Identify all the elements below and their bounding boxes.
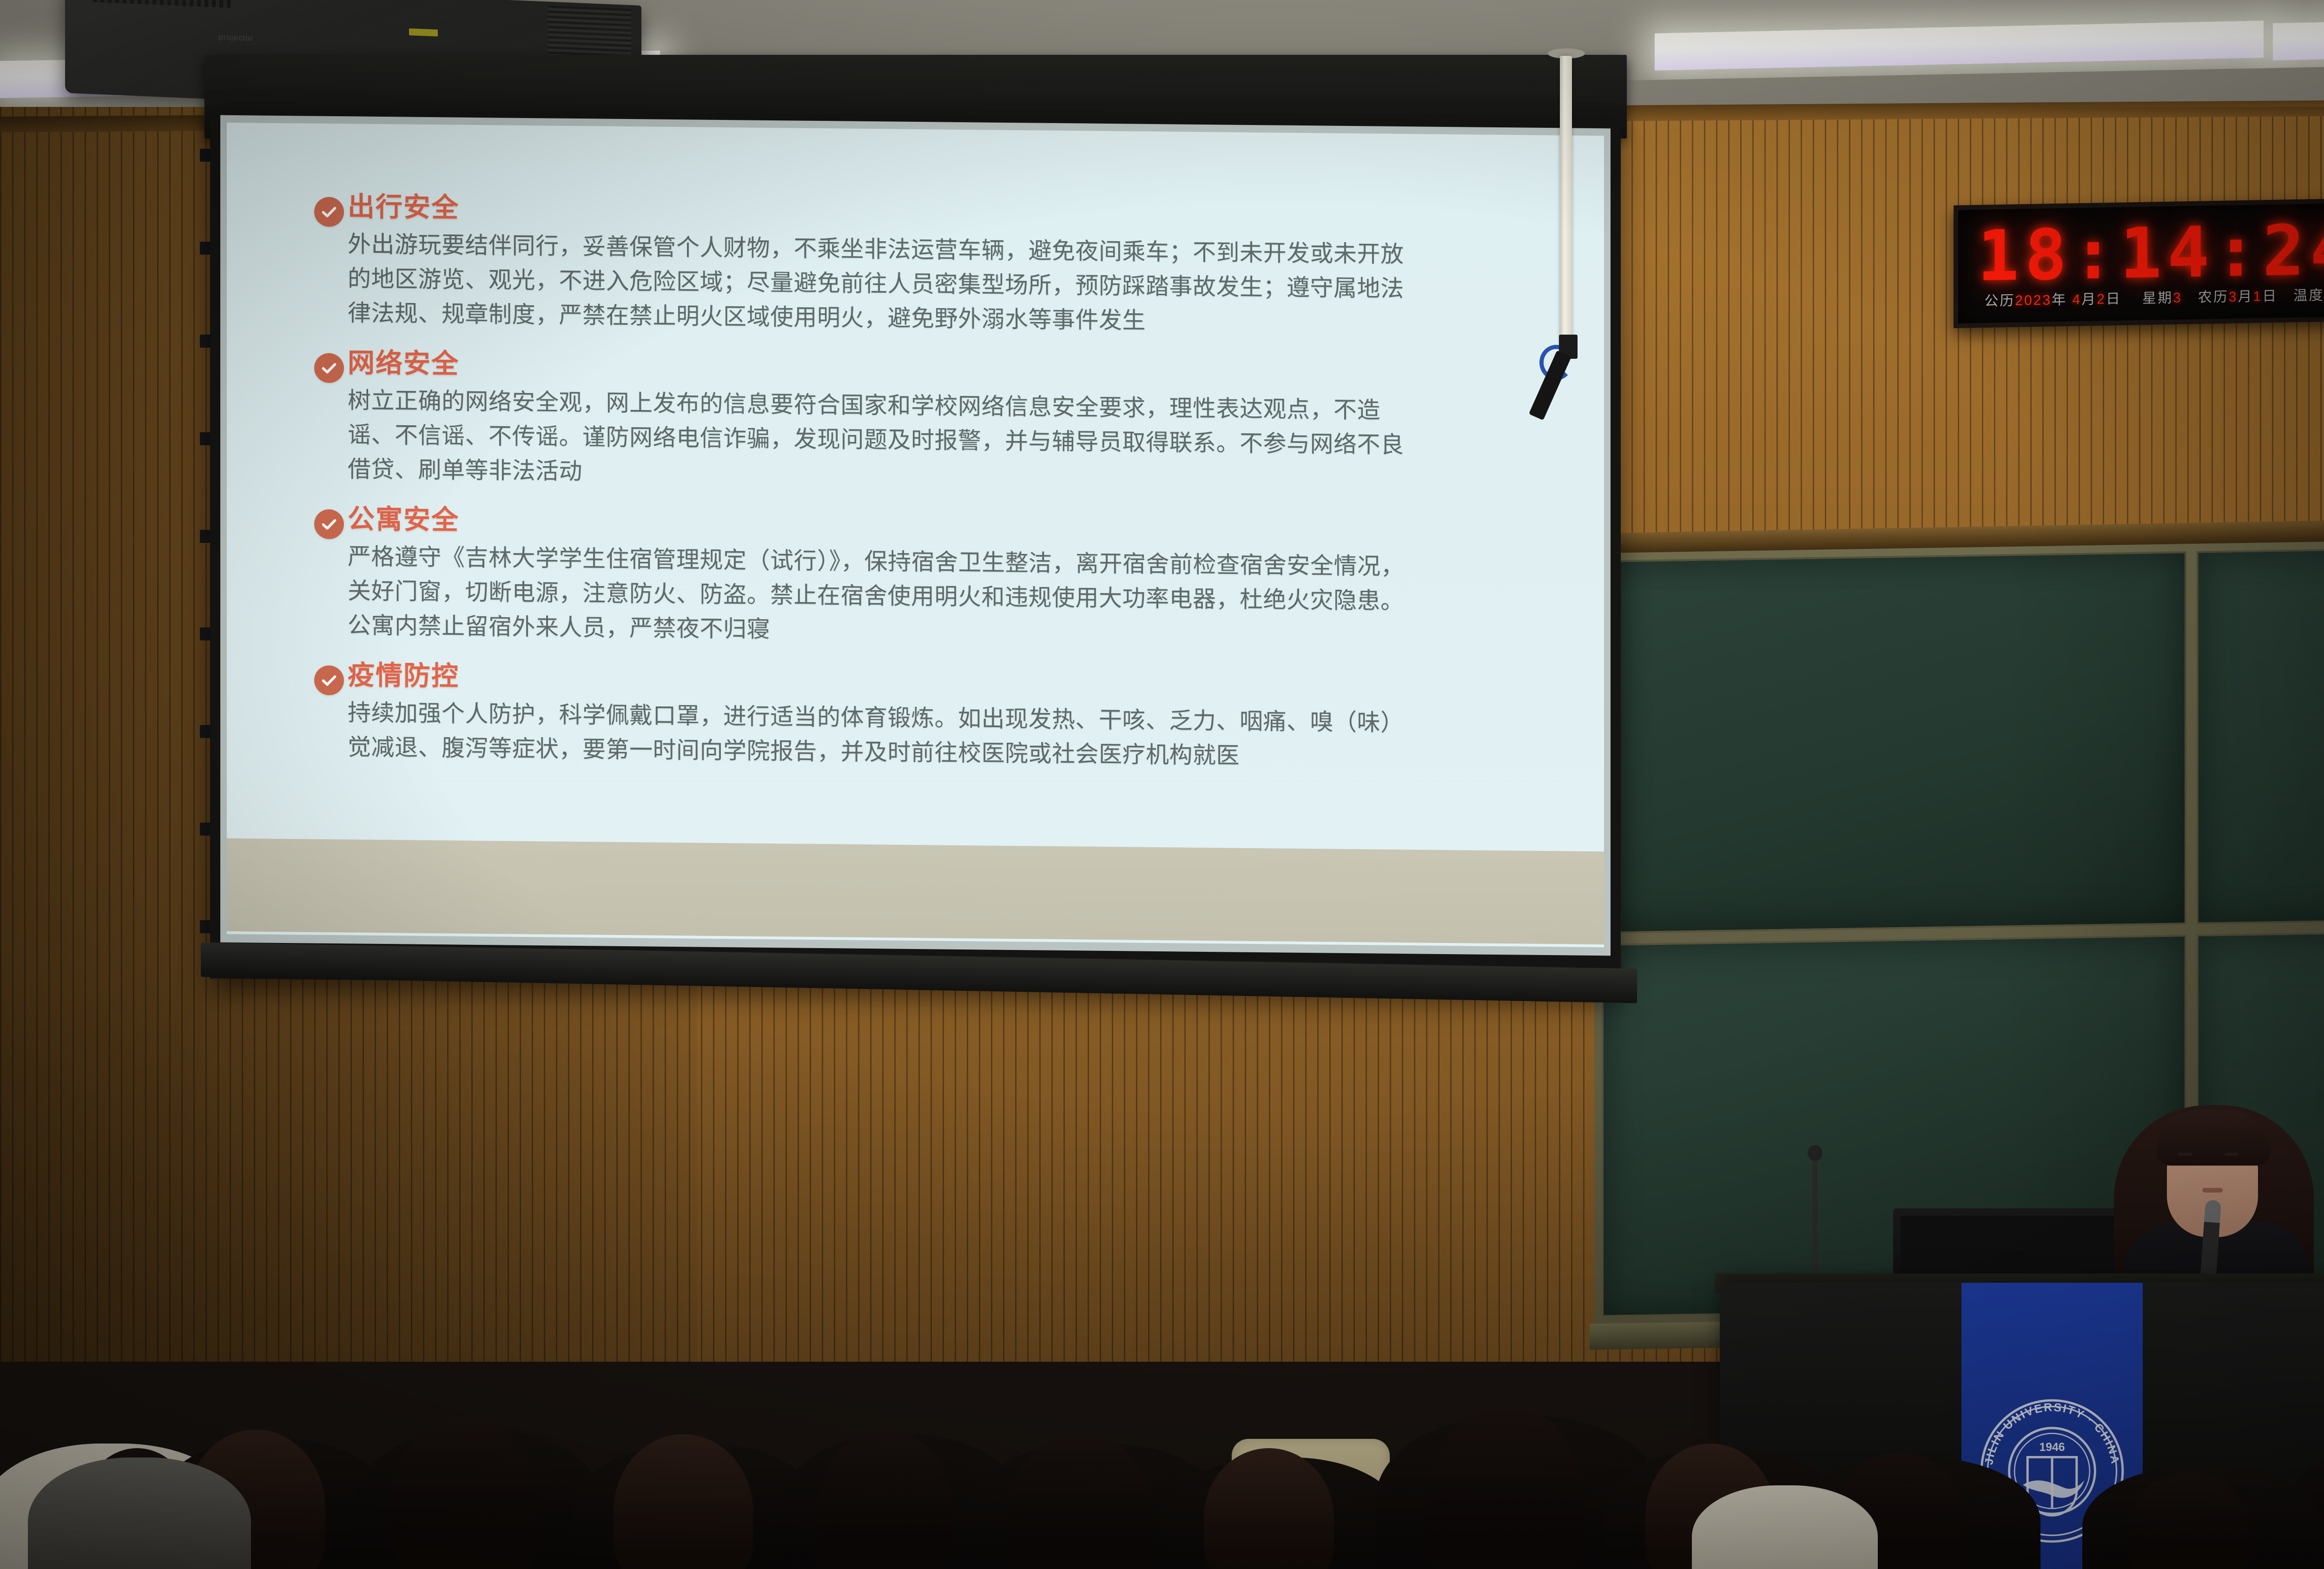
clock-year: 2023: [2015, 292, 2052, 308]
slide-bottom-band: [227, 838, 1604, 944]
section-title: 出行安全: [348, 193, 1548, 232]
check-circle-icon: [314, 509, 344, 540]
presenter-eye: [2178, 1153, 2192, 1156]
clock-time: 18:14:24: [1958, 215, 2324, 292]
slide-section: 疫情防控 持续加强个人防护，科学佩戴口罩，进行适当的体育锻炼。如出现发热、干咳、…: [297, 661, 1548, 776]
digital-wall-clock: 18:14:24 公历2023年 4月2日 星期3 农历3月1日 温度1℃: [1954, 198, 2324, 328]
clock-lunar-label: 农历: [2198, 290, 2229, 305]
screen-pull-hook-icon[interactable]: [1538, 335, 1594, 418]
section-body: 树立正确的网络安全观，网上发布的信息要符合国家和学校网络信息安全要求，理性表达观…: [348, 383, 1426, 496]
chalkboard-panel: [1602, 551, 2186, 934]
section-title: 疫情防控: [348, 662, 1548, 700]
clock-temp-label: 温度: [2293, 288, 2324, 303]
screen-surface: 出行安全 外出游玩要结伴同行，妥善保管个人财物，不乘坐非法运营车辆，避免夜间乘车…: [227, 123, 1604, 947]
slide-section: 公寓安全 严格遵守《吉林大学学生住宿管理规定（试行）》，保持宿舍卫生整洁，离开宿…: [297, 505, 1548, 654]
clock-day-unit: 日: [2106, 291, 2121, 307]
screen-pull-rod[interactable]: [1560, 56, 1572, 344]
clock-lunar-day-unit: 日: [2262, 289, 2278, 304]
lecture-hall-photo: projector multimedia unit 18:14:24 公历202…: [0, 0, 2324, 1569]
presenter-eye: [2225, 1153, 2238, 1156]
check-circle-icon: [314, 666, 344, 696]
projection-screen: 出行安全 外出游玩要结伴同行，妥善保管个人财物，不乘坐非法运营车辆，避免夜间乘车…: [210, 109, 1621, 992]
audience: [0, 1244, 2324, 1569]
clock-year-unit: 年: [2052, 292, 2067, 308]
clock-weekday: 3: [2173, 290, 2182, 305]
presenter-bangs: [2157, 1110, 2270, 1166]
projector-vent-icon: [93, 0, 232, 8]
section-title: 网络安全: [348, 349, 1548, 388]
section-title: 公寓安全: [348, 506, 1548, 544]
section-body: 持续加强个人防护，科学佩戴口罩，进行适当的体育锻炼。如出现发热、干咳、乏力、咽痛…: [348, 695, 1426, 774]
presentation-slide: 出行安全 外出游玩要结伴同行，妥善保管个人财物，不乘坐非法运营车辆，避免夜间乘车…: [227, 123, 1604, 947]
slide-section: 出行安全 外出游玩要结伴同行，妥善保管个人财物，不乘坐非法运营车辆，避免夜间乘车…: [297, 193, 1548, 342]
microphone-head-icon: [1808, 1145, 1822, 1161]
clock-month: 4: [2072, 292, 2081, 307]
clock-lunar-month-unit: 月: [2238, 289, 2253, 305]
audience-shoulders: [28, 1457, 251, 1569]
clock-weekday-label: 星期: [2142, 290, 2173, 306]
clock-month-unit: 月: [2081, 292, 2097, 308]
clock-lunar-month: 3: [2229, 289, 2238, 304]
slide-section: 网络安全 树立正确的网络安全观，网上发布的信息要符合国家和学校网络信息安全要求，…: [297, 349, 1548, 498]
clock-lunar-day: 1: [2253, 289, 2263, 304]
check-circle-icon: [314, 197, 344, 227]
section-body: 外出游玩要结伴同行，妥善保管个人财物，不乘坐非法运营车辆，避免夜间乘车；不到未开…: [348, 227, 1426, 340]
check-circle-icon: [314, 353, 344, 383]
clock-day: 2: [2097, 291, 2106, 307]
section-body: 严格遵守《吉林大学学生住宿管理规定（试行）》，保持宿舍卫生整洁，离开宿舍前检查宿…: [348, 539, 1426, 653]
presenter-mouth: [2202, 1188, 2223, 1193]
chalkboard-panel: [2197, 542, 2324, 924]
clock-date-prefix: 公历: [1984, 293, 2015, 309]
projector-brand-label: projector: [218, 33, 253, 43]
projector-status-led-icon: [409, 28, 438, 37]
